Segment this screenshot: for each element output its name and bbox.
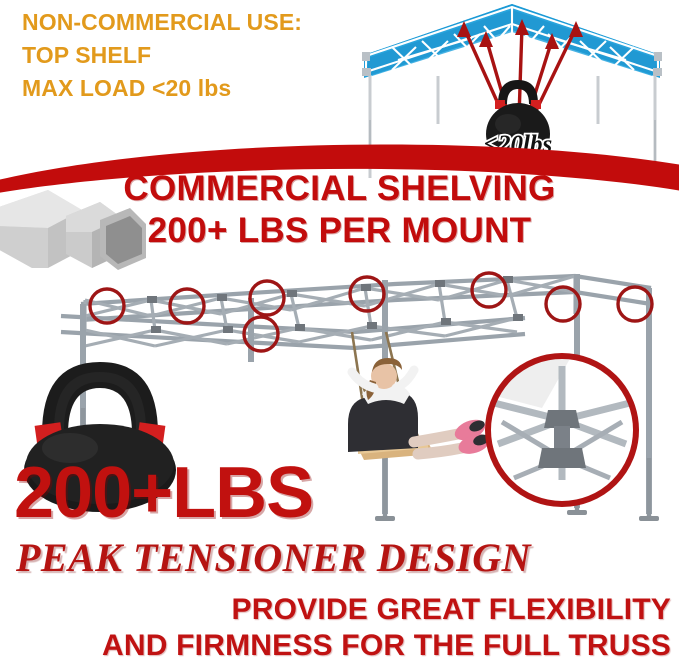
benefit-line-1: PROVIDE GREAT FLEXIBILITY bbox=[0, 592, 671, 628]
benefit-line-2: AND FIRMNESS FOR THE FULL TRUSS bbox=[0, 628, 671, 664]
product-infographic: NON-COMMERCIAL USE: TOP SHELF MAX LOAD <… bbox=[0, 0, 679, 666]
peak-tensioner-detail bbox=[480, 348, 645, 513]
headline-line-2: 200+ LBS PER MOUNT bbox=[0, 210, 679, 252]
girl-figure bbox=[348, 358, 492, 458]
detail-contents bbox=[480, 348, 645, 513]
load-callout-200lbs: 200+LBS bbox=[14, 455, 374, 531]
peak-tensioner-tagline: PEAK TENSIONER DESIGN bbox=[16, 535, 476, 581]
warning-line-3: MAX LOAD <20 lbs bbox=[22, 72, 352, 105]
warning-line-2: TOP SHELF bbox=[22, 39, 352, 72]
non-commercial-warning: NON-COMMERCIAL USE: TOP SHELF MAX LOAD <… bbox=[22, 6, 352, 105]
benefit-text-block: PROVIDE GREAT FLEXIBILITY AND FIRMNESS F… bbox=[0, 592, 679, 664]
commercial-shelving-headline: COMMERCIAL SHELVING 200+ LBS PER MOUNT bbox=[0, 168, 679, 252]
headline-line-1: COMMERCIAL SHELVING bbox=[0, 168, 679, 210]
warning-line-1: NON-COMMERCIAL USE: bbox=[22, 6, 352, 39]
